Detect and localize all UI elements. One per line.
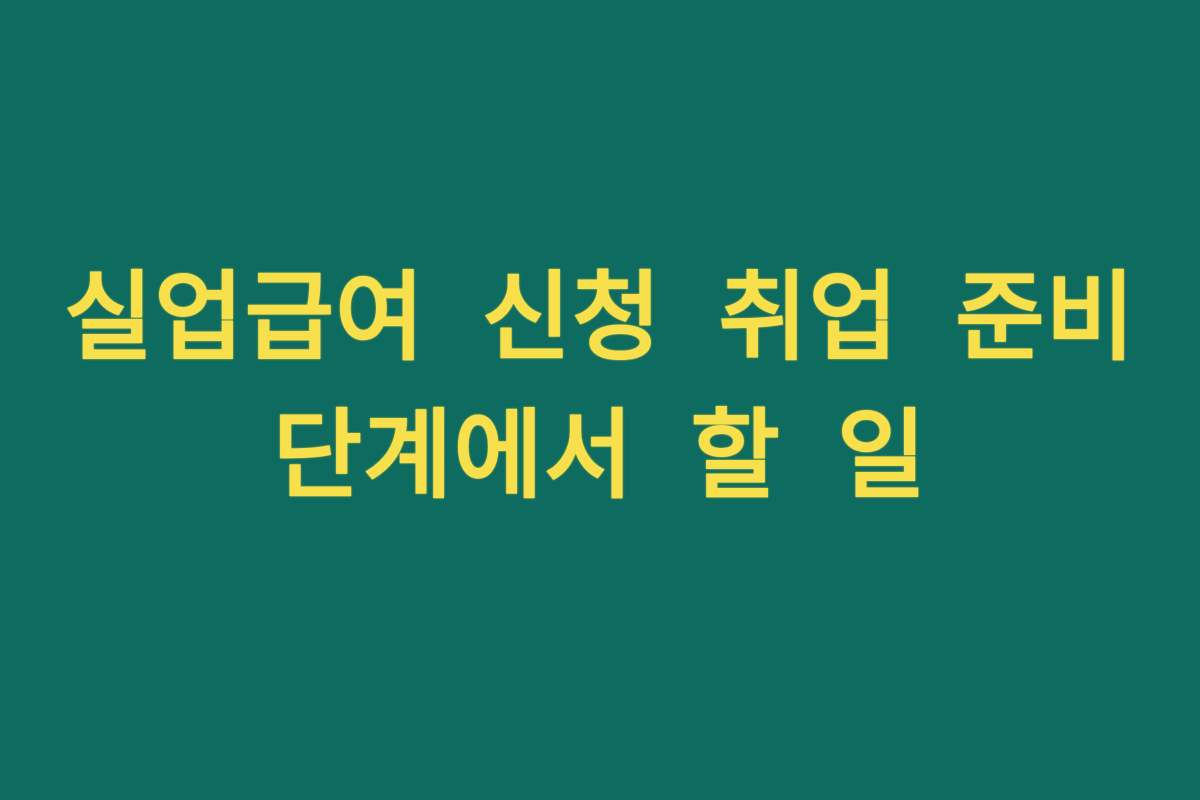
headline-line-1: 실업급여 신청 취업 준비 xyxy=(40,249,1160,387)
page-title: 실업급여 신청 취업 준비 단계에서 할 일 xyxy=(40,249,1160,524)
headline-line-2: 단계에서 할 일 xyxy=(40,387,1160,525)
poster-canvas: 실업급여 신청 취업 준비 단계에서 할 일 xyxy=(0,0,1200,800)
